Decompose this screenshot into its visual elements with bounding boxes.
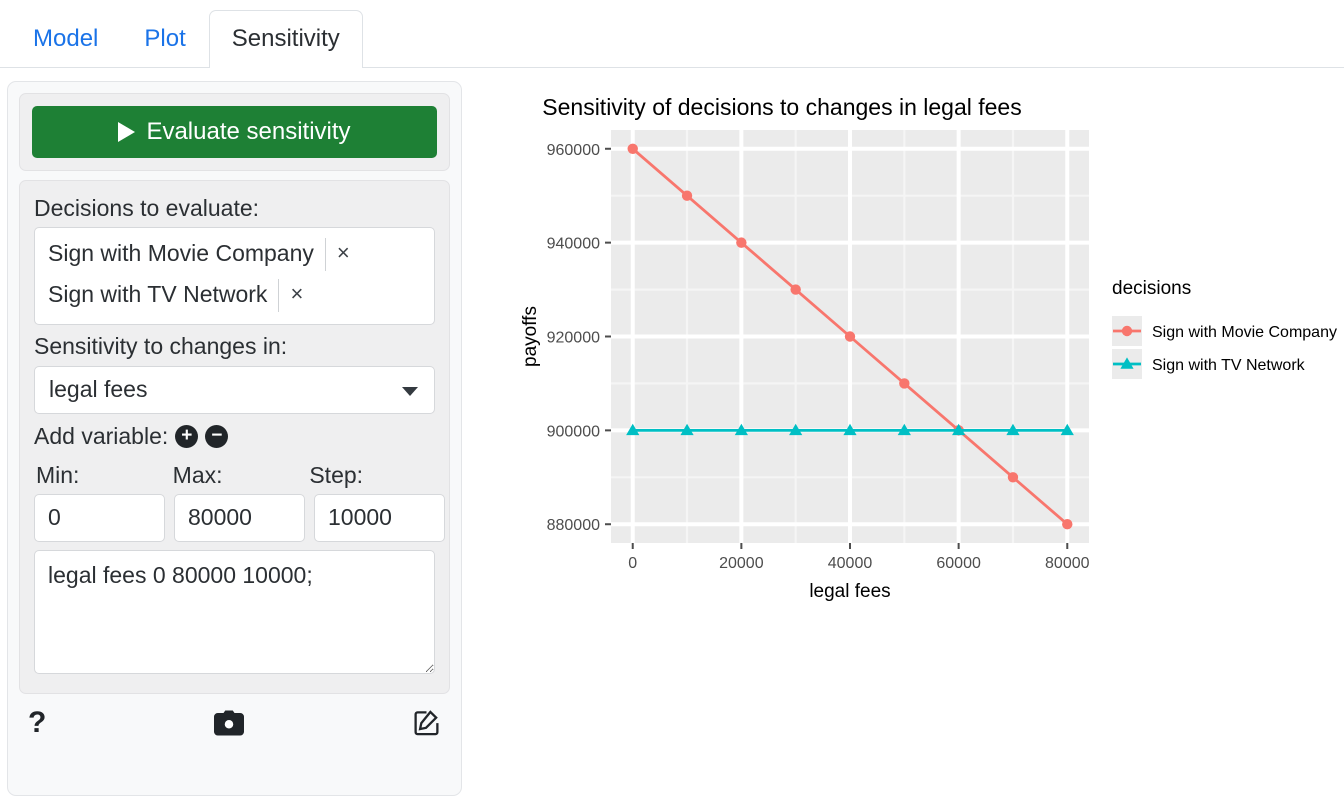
tab-plot[interactable]: Plot: [121, 10, 208, 68]
add-variable-button[interactable]: +: [175, 425, 198, 448]
decision-token-tv-network[interactable]: Sign with TV Network ×: [43, 279, 309, 312]
svg-text:940000: 940000: [547, 236, 600, 253]
tab-sensitivity[interactable]: Sensitivity: [209, 10, 363, 68]
remove-token-icon[interactable]: ×: [278, 279, 309, 312]
sensitivity-chart: Sensitivity of decisions to changes in l…: [470, 81, 1344, 611]
sensitivity-spec-textarea[interactable]: [34, 550, 435, 674]
range-labels-row: Min: Max: Step:: [34, 462, 435, 494]
camera-icon[interactable]: [214, 710, 244, 736]
svg-text:80000: 80000: [1045, 555, 1090, 572]
max-label: Max:: [171, 462, 299, 489]
svg-text:880000: 880000: [547, 517, 600, 534]
decisions-label: Decisions to evaluate:: [34, 195, 435, 221]
max-input[interactable]: [174, 494, 305, 542]
add-variable-label: Add variable:: [34, 423, 168, 450]
min-input[interactable]: [34, 494, 165, 542]
decision-token-row: Sign with Movie Company ×: [43, 234, 426, 275]
step-label: Step:: [307, 462, 435, 489]
help-icon[interactable]: ?: [28, 708, 46, 738]
svg-text:960000: 960000: [547, 142, 600, 159]
decisions-input[interactable]: Sign with Movie Company × Sign with TV N…: [34, 227, 435, 325]
decision-token-row: Sign with TV Network ×: [43, 275, 426, 316]
help-icon-glyph: ?: [28, 708, 46, 738]
chart-svg: 8800009000009200009400009600000200004000…: [470, 81, 1344, 611]
add-variable-row: Add variable: + −: [34, 423, 435, 450]
svg-text:legal fees: legal fees: [809, 581, 890, 602]
sensitivity-variable-value: legal fees: [49, 376, 147, 403]
play-icon: [118, 122, 135, 142]
sensitivity-variable-label: Sensitivity to changes in:: [34, 333, 435, 359]
edit-icon[interactable]: [412, 708, 441, 737]
svg-text:60000: 60000: [936, 555, 981, 572]
svg-text:900000: 900000: [547, 423, 600, 440]
decision-token-label: Sign with Movie Company: [43, 238, 325, 271]
sensitivity-form-panel: Decisions to evaluate: Sign with Movie C…: [19, 180, 450, 694]
svg-text:Sign with Movie Company: Sign with Movie Company: [1152, 324, 1337, 341]
decision-token-movie-company[interactable]: Sign with Movie Company ×: [43, 238, 356, 271]
run-panel: Evaluate sensitivity: [19, 93, 450, 171]
max-field-wrap: [174, 494, 305, 542]
evaluate-sensitivity-label: Evaluate sensitivity: [146, 118, 350, 146]
tab-bar: Model Plot Sensitivity: [0, 0, 1344, 68]
step-input[interactable]: [314, 494, 445, 542]
evaluate-sensitivity-button[interactable]: Evaluate sensitivity: [32, 106, 437, 158]
remove-variable-button[interactable]: −: [205, 425, 228, 448]
svg-text:0: 0: [628, 555, 637, 572]
sensitivity-variable-select[interactable]: legal fees: [34, 366, 435, 414]
min-field-wrap: [34, 494, 165, 542]
svg-text:40000: 40000: [828, 555, 873, 572]
chevron-down-icon: [402, 387, 418, 396]
card-footer: ?: [19, 694, 450, 742]
remove-token-icon[interactable]: ×: [325, 238, 356, 271]
tab-model[interactable]: Model: [10, 10, 121, 68]
min-label: Min:: [34, 462, 162, 489]
decision-token-label: Sign with TV Network: [43, 279, 278, 312]
svg-text:Sign with TV Network: Sign with TV Network: [1152, 357, 1306, 374]
step-field-wrap: [314, 494, 445, 542]
svg-text:decisions: decisions: [1112, 278, 1191, 299]
sensitivity-control-card: Evaluate sensitivity Decisions to evalua…: [7, 81, 462, 796]
svg-text:920000: 920000: [547, 330, 600, 347]
range-inputs-row: [34, 494, 435, 542]
svg-text:payoffs: payoffs: [520, 306, 541, 367]
svg-text:20000: 20000: [719, 555, 764, 572]
